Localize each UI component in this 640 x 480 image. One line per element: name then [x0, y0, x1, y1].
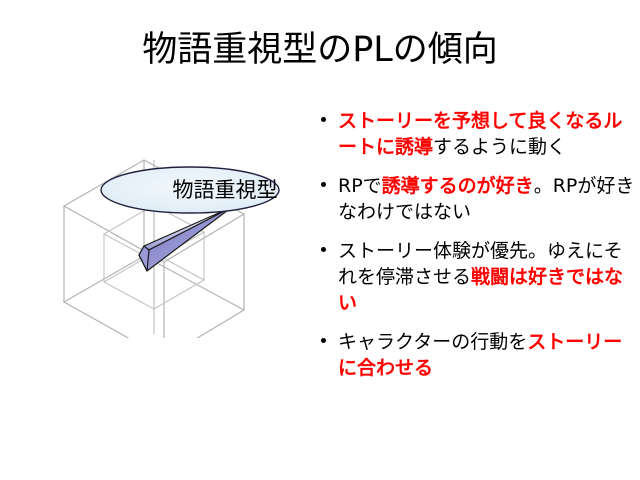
bullet-run-plain: するように動く [433, 136, 566, 158]
bullet-run-plain: RPで [338, 175, 382, 197]
bullet-dot-icon [321, 117, 326, 122]
wedge-lower-facet [139, 207, 232, 271]
bullet-run-plain: キャラクターの行動を [338, 331, 527, 353]
page-title: 物語重視型のPLの傾向 [0, 28, 640, 72]
bullet-text-2: RPで誘導するのが好き。RPが好きなわけではない [338, 173, 640, 225]
list-item: RPで誘導するのが好き。RPが好きなわけではない [314, 173, 640, 225]
bullet-text-4: キャラクターの行動をストーリーに合わせる [338, 329, 640, 381]
wedge-base-cap [139, 246, 149, 271]
bullet-dot-icon [321, 338, 326, 343]
callout-ellipse [101, 167, 279, 213]
slide-canvas: 物語重視型のPLの傾向 [0, 0, 640, 480]
wedge-upper-facet [139, 207, 232, 255]
bullet-text-1: ストーリーを予想して良くなるルートに誘導するように動く [338, 108, 640, 160]
bullet-list: ストーリーを予想して良くなるルートに誘導するように動く RPで誘導するのが好き。… [314, 108, 640, 381]
diagram-figure [46, 138, 306, 338]
list-item: ストーリーを予想して良くなるルートに誘導するように動く [314, 108, 640, 160]
bullet-run-highlight: 誘導するのが好き [382, 175, 534, 197]
list-item: キャラクターの行動をストーリーに合わせる [314, 329, 640, 381]
bullet-dot-icon [321, 247, 326, 252]
gradient-wedge-pointer [139, 207, 232, 271]
bullet-dot-icon [321, 182, 326, 187]
list-item: ストーリー体験が優先。ゆえにそれを停滞させる戦闘は好きではない [314, 238, 640, 316]
bullet-text-3: ストーリー体験が優先。ゆえにそれを停滞させる戦闘は好きではない [338, 238, 640, 316]
isometric-cube-svg [46, 138, 306, 338]
